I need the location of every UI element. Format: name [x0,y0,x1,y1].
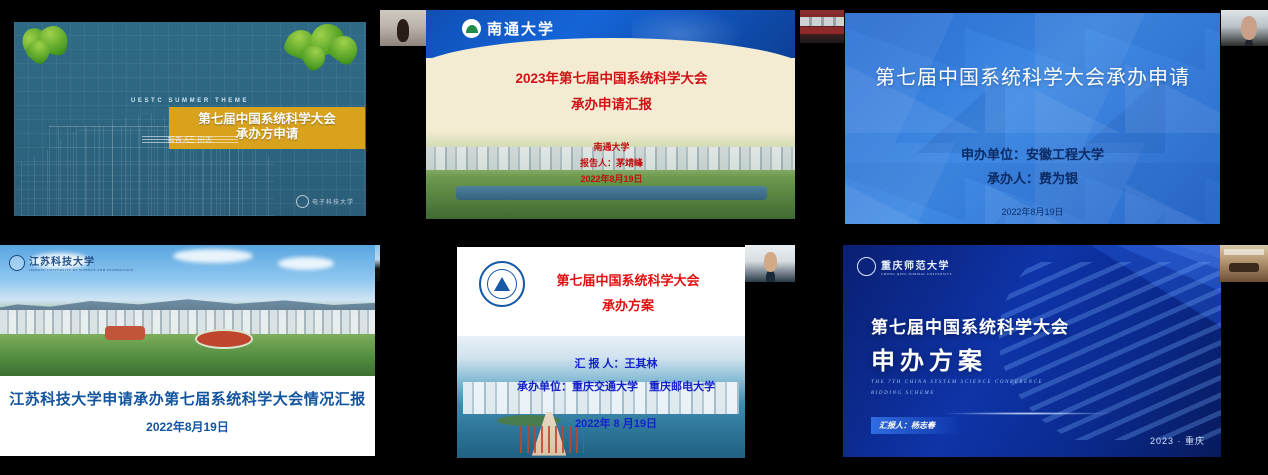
slide-date: 2022年8月19日 [0,418,375,435]
logo-seal-icon [462,19,481,38]
video-tile-nantong[interactable]: 南通大学 2023年第七届中国系统科学大会 承办申请汇报 南通大学 报告人：茅靖… [380,0,795,235]
slide-presenter: 报告人：田志 [14,135,366,145]
slide-footer: 2023 · 重庆 [1150,434,1205,447]
logo-text-en: JIANGSU UNIVERSITY OF SCIENCE AND TECHNO… [29,268,134,272]
video-conference-gallery: UESTC SUMMER THEME 第七届中国系统科学大会 承办方申请 报告人… [0,0,1268,475]
slide-meta: 汇 报 人：王其林 承办单位：重庆交通大学 重庆邮电大学 [497,353,735,399]
low-poly-background [845,13,1220,224]
slide-eyebrow: UESTC SUMMER THEME [14,98,366,104]
participant-video-feed [375,245,380,281]
webcam-thumbnail-panel[interactable] [800,10,844,43]
video-tile-just[interactable]: 江苏科技大学 JIANGSU UNIVERSITY OF SCIENCE AND… [0,235,380,475]
logo-text: 江苏科技大学 JIANGSU UNIVERSITY OF SCIENCE AND… [29,253,134,272]
slide-title-line2: 申办方案 [871,341,987,376]
slide-organizer: 承办单位：重庆交通大学 重庆邮电大学 [497,376,735,399]
slide-meta: 申办单位：安徽工程大学 承办人：费为银 [845,143,1220,191]
slide-date: 2022年8月19日 [845,205,1220,218]
ginkgo-leaf-icon-left [22,26,74,66]
participant-video-feed [380,10,426,46]
logo-text: 南通大学 [487,18,555,39]
slide-applicant: 申办单位：安徽工程大学 [845,143,1220,167]
webcam-thumbnail-nantong[interactable] [380,10,426,46]
logo-ring-icon [9,255,25,271]
slide-title-line1: 第七届中国系统科学大会 [871,313,1069,338]
slide-subtitle-en: THE 7TH CHINA SYSTEM SCIENCE CONFERENCE … [871,377,1043,399]
slide-subtitle-en-line1: THE 7TH CHINA SYSTEM SCIENCE CONFERENCE [871,377,1043,388]
webcam-thumbnail-just[interactable] [375,245,380,281]
university-logo-uestc: 电子科技大学 [296,195,354,208]
shared-slide-nantong: 南通大学 2023年第七届中国系统科学大会 承办申请汇报 南通大学 报告人：茅靖… [426,10,795,219]
slide-title: 江苏科技大学申请承办第七届系统科学大会情况汇报 [0,388,375,409]
campus-buildings [0,310,375,336]
cloud-shape [173,249,253,263]
video-tile-anhui[interactable]: 第七届中国系统科学大会承办申请 申办单位：安徽工程大学 承办人：费为银 2022… [795,0,1268,235]
slide-date: 2022年8月19日 [426,172,795,188]
logo-text-en: CHONG QING NORMAL UNIVERSITY [881,272,952,276]
slide-presenter: 汇 报 人：王其林 [497,353,735,376]
ginkgo-leaf-icon-right [284,24,362,76]
video-tile-uestc[interactable]: UESTC SUMMER THEME 第七届中国系统科学大会 承办方申请 报告人… [0,0,380,235]
shared-slide-just: 江苏科技大学 JIANGSU UNIVERSITY OF SCIENCE AND… [0,245,375,456]
slide-title: 第七届中国系统科学大会 承办方案 [525,269,731,318]
slide-subtitle-en-line2: BIDDING SCHEME [871,388,1043,399]
slide-title-line2: 承办申请汇报 [426,92,795,118]
slide-title-line1: 第七届中国系统科学大会 [525,269,731,294]
slide-date: 2022年 8 月19日 [497,415,735,431]
participant-video-feed [1221,10,1268,46]
slide-title: 2023年第七届中国系统科学大会 承办申请汇报 [426,66,795,117]
logo-text: 重庆师范大学 CHONG QING NORMAL UNIVERSITY [881,257,952,276]
logo-text: 电子科技大学 [312,197,354,206]
participant-video-feed [800,10,844,43]
shared-slide-chongqing-normal: 重庆师范大学 CHONG QING NORMAL UNIVERSITY 第七届中… [843,245,1221,457]
shared-slide-uestc: UESTC SUMMER THEME 第七届中国系统科学大会 承办方申请 报告人… [14,22,366,216]
university-logo-cqnu: 重庆师范大学 CHONG QING NORMAL UNIVERSITY [857,257,952,276]
participant-video-feed [745,245,795,282]
participant-video-feed [1220,245,1268,282]
slide-meta: 南通大学 报告人：茅靖峰 2022年8月19日 [426,140,795,187]
logo-ring-icon [296,195,309,208]
university-logo-cqjtu [479,261,525,307]
slide-organization: 南通大学 [426,140,795,156]
university-logo-just: 江苏科技大学 JIANGSU UNIVERSITY OF SCIENCE AND… [9,253,134,272]
greenfield-foreground [0,334,375,376]
slide-presenter: 报告人：茅靖峰 [426,156,795,172]
webcam-thumbnail-cqjtu[interactable] [745,245,795,282]
shared-slide-chongqing-jiaotong: 第七届中国系统科学大会 承办方案 汇 报 人：王其林 承办单位：重庆交通大学 重… [457,247,745,458]
red-roof-building [105,326,145,340]
glow-streak [941,412,1115,415]
video-tile-chongqing-normal[interactable]: 重庆师范大学 CHONG QING NORMAL UNIVERSITY 第七届中… [795,235,1268,475]
globe-watermark-icon [632,10,752,58]
logo-text-cn: 江苏科技大学 [29,257,95,268]
logo-text-cn: 重庆师范大学 [881,261,950,272]
slide-title: 第七届中国系统科学大会承办申请 [845,61,1220,90]
running-track [195,329,253,349]
shared-slide-anhui: 第七届中国系统科学大会承办申请 申办单位：安徽工程大学 承办人：费为银 2022… [845,13,1220,224]
logo-ring-icon [857,257,876,276]
university-logo-nantong: 南通大学 [462,18,555,39]
slide-title-line2: 承办方案 [525,294,731,319]
webcam-thumbnail-room[interactable] [1220,245,1268,282]
webcam-thumbnail-anhui[interactable] [1221,10,1268,46]
slide-title-line1: 2023年第七届中国系统科学大会 [426,66,795,92]
cloud-shape [278,257,334,270]
slide-organizer: 承办人：费为银 [845,167,1220,191]
slide-title-line1: 第七届中国系统科学大会 [169,112,365,127]
slide-presenter-badge: 汇报人：杨志春 [871,417,961,434]
video-tile-chongqing-jiaotong[interactable]: 第七届中国系统科学大会 承办方案 汇 报 人：王其林 承办单位：重庆交通大学 重… [427,235,795,475]
